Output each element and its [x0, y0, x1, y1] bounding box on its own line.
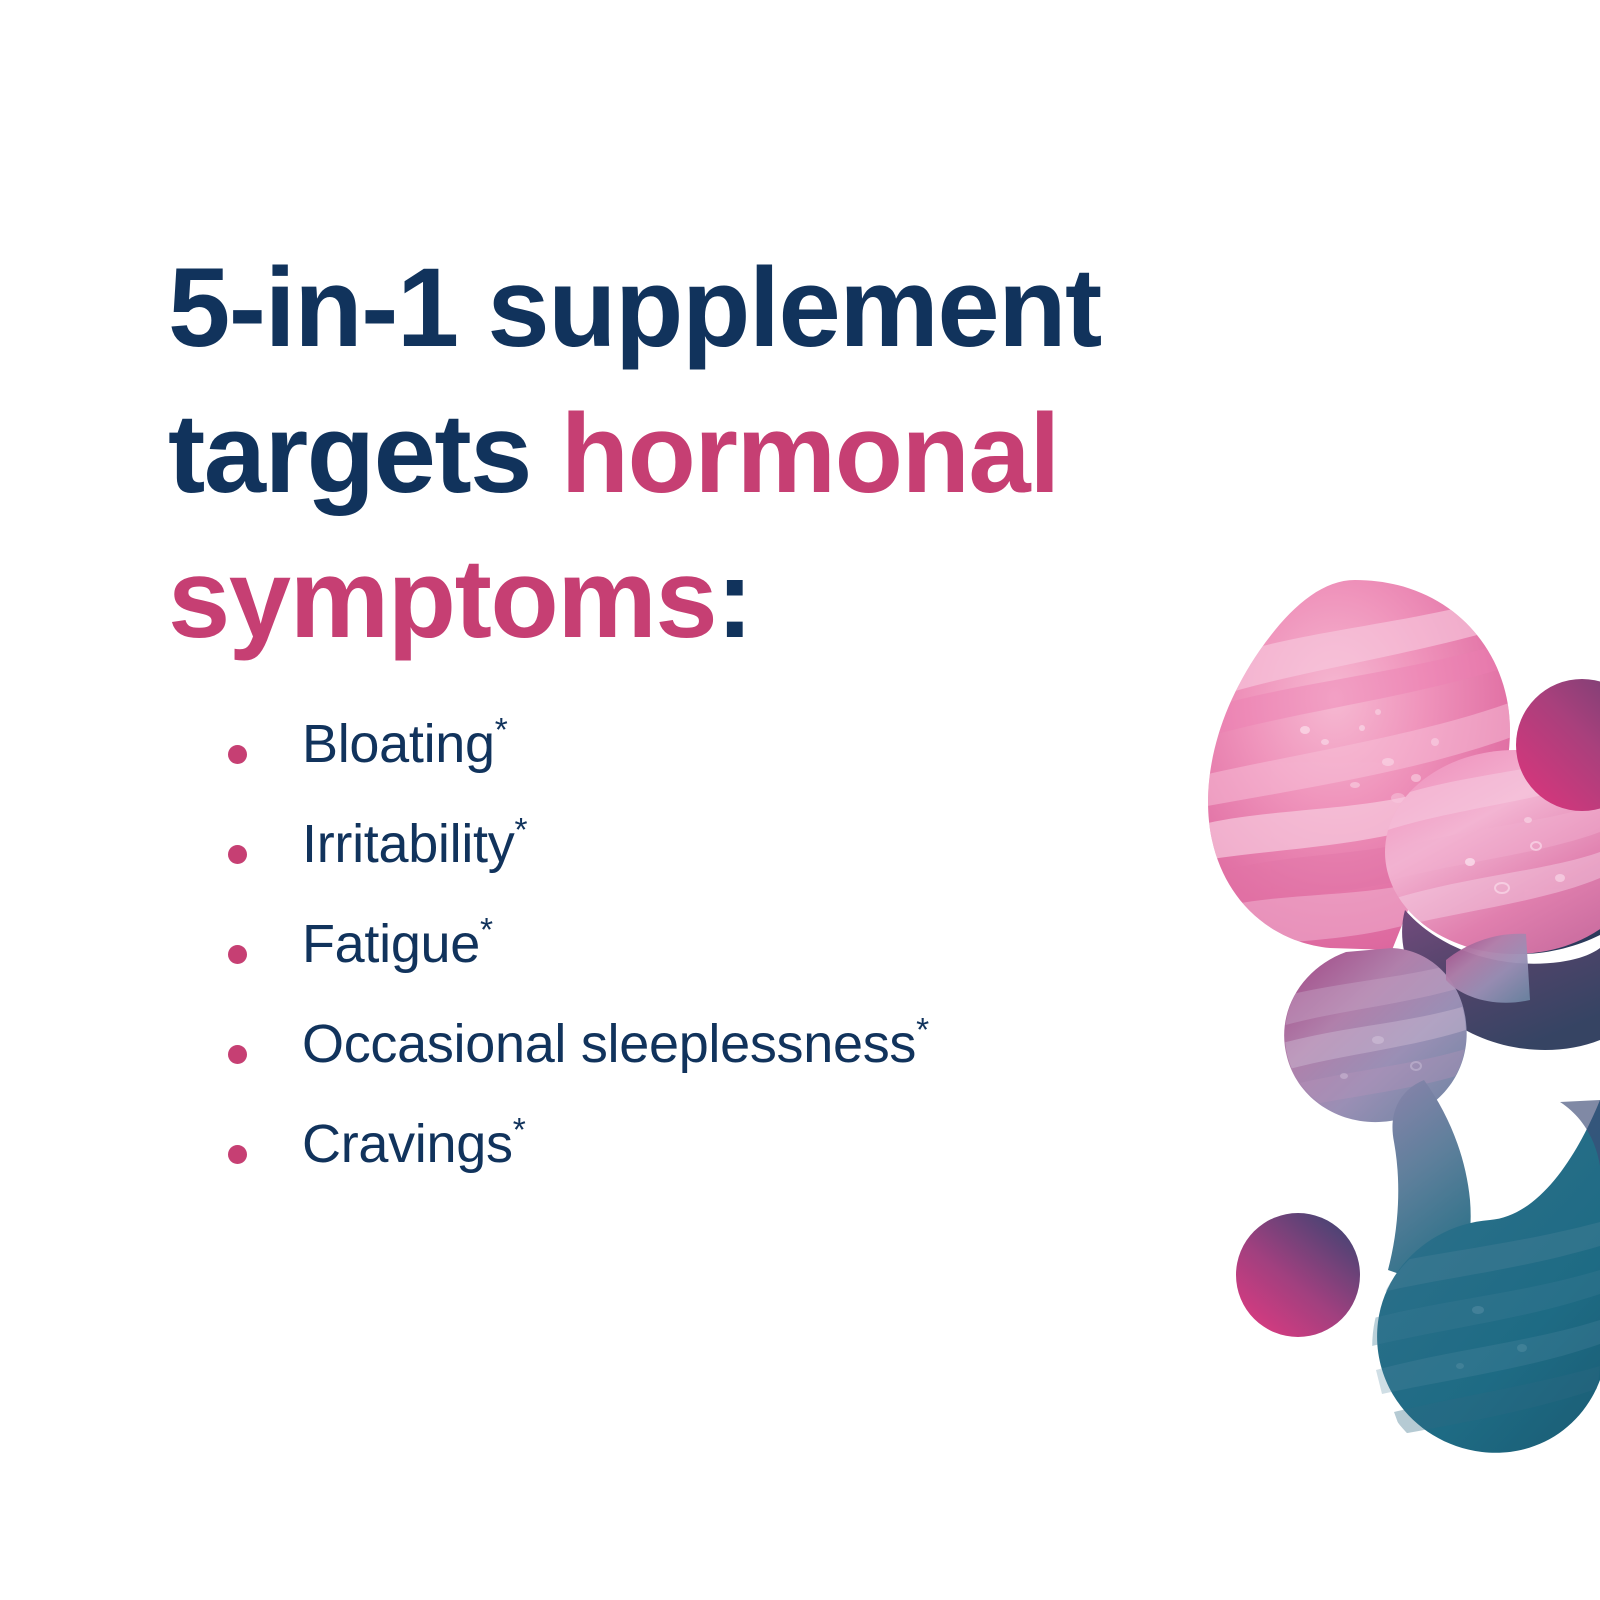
- bullet-dot-icon: [228, 945, 247, 964]
- list-item: Irritability*: [228, 814, 1228, 914]
- molecule-neck-upper: [1391, 814, 1486, 913]
- footnote-asterisk: *: [495, 712, 508, 749]
- symptom-list: Bloating* Irritability* Fatigue* Occasio…: [228, 714, 1228, 1214]
- footnote-asterisk: *: [916, 1012, 929, 1049]
- symptom-text: Bloating: [302, 714, 495, 774]
- molecule-dark-shelf: [1402, 910, 1600, 1050]
- symptom-text: Occasional sleeplessness: [302, 1014, 916, 1074]
- list-item: Bloating*: [228, 714, 1228, 814]
- headline-line-2-navy: targets: [168, 391, 561, 516]
- poster-canvas: 5-in-1 supplement targets hormonal sympt…: [0, 0, 1600, 1600]
- footnote-asterisk: *: [480, 912, 493, 949]
- molecule-dot-lower: [1236, 1213, 1360, 1337]
- molecule-lobe-mauve: [1270, 948, 1475, 1122]
- headline-line-1: 5-in-1 supplement: [168, 245, 1101, 370]
- symptom-text: Cravings: [302, 1114, 513, 1174]
- bullet-dot-icon: [228, 1045, 247, 1064]
- molecule-neck-lower: [1388, 1080, 1471, 1292]
- symptom-label: Cravings*: [302, 1114, 526, 1171]
- symptom-text: Irritability: [302, 814, 514, 874]
- list-item: Fatigue*: [228, 914, 1228, 1014]
- headline-line-3-accent: symptoms: [168, 536, 716, 661]
- symptom-label: Fatigue*: [302, 914, 493, 971]
- symptom-label: Irritability*: [302, 814, 527, 871]
- molecule-ball-teal: [1360, 1100, 1600, 1453]
- footnote-asterisk: *: [513, 1112, 526, 1149]
- bullet-dot-icon: [228, 1145, 247, 1164]
- headline-colon: :: [716, 536, 752, 661]
- footnote-asterisk: *: [514, 812, 527, 849]
- bullet-dot-icon: [228, 745, 247, 764]
- page-title: 5-in-1 supplement targets hormonal sympt…: [168, 235, 1288, 672]
- headline-line-2-accent: hormonal: [561, 391, 1059, 516]
- list-item: Occasional sleeplessness*: [228, 1014, 1228, 1114]
- molecule-dark-body: [1415, 798, 1600, 954]
- molecule-dot-upper: [1516, 679, 1600, 811]
- molecule-ball-pink-mid: [1385, 750, 1600, 954]
- list-item: Cravings*: [228, 1114, 1228, 1214]
- bullet-dot-icon: [228, 845, 247, 864]
- symptom-label: Occasional sleeplessness*: [302, 1014, 929, 1071]
- symptom-label: Bloating*: [302, 714, 508, 771]
- molecule-neck-mid: [1446, 934, 1530, 1003]
- symptom-text: Fatigue: [302, 914, 480, 974]
